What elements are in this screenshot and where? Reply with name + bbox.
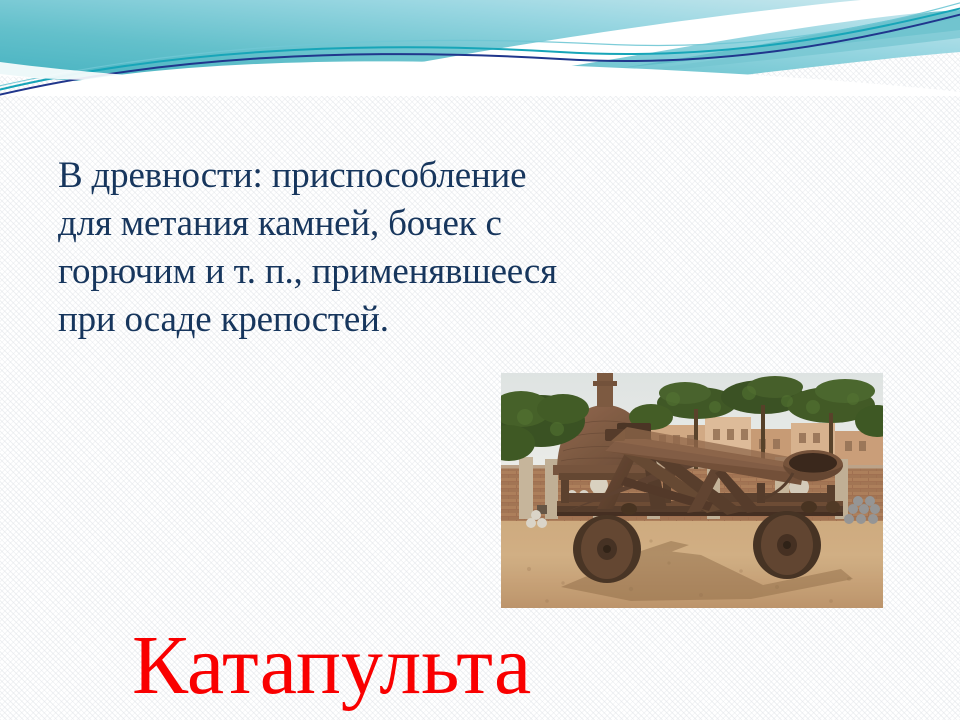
body-line-3: горючим и т. п., применявшееся [58, 248, 798, 296]
presentation-slide: В древности: приспособление для метания … [0, 0, 960, 720]
catapult-photo [501, 373, 883, 608]
body-line-4: при осаде крепостей. [58, 296, 798, 344]
body-line-2: для метания камней, бочек с [58, 200, 798, 248]
body-line-1: В древности: приспособление [58, 152, 798, 200]
slide-title: Катапульта [132, 618, 531, 714]
header-wave-decoration [0, 0, 960, 96]
body-paragraph: В древности: приспособление для метания … [58, 152, 798, 344]
background-texture [0, 0, 960, 720]
